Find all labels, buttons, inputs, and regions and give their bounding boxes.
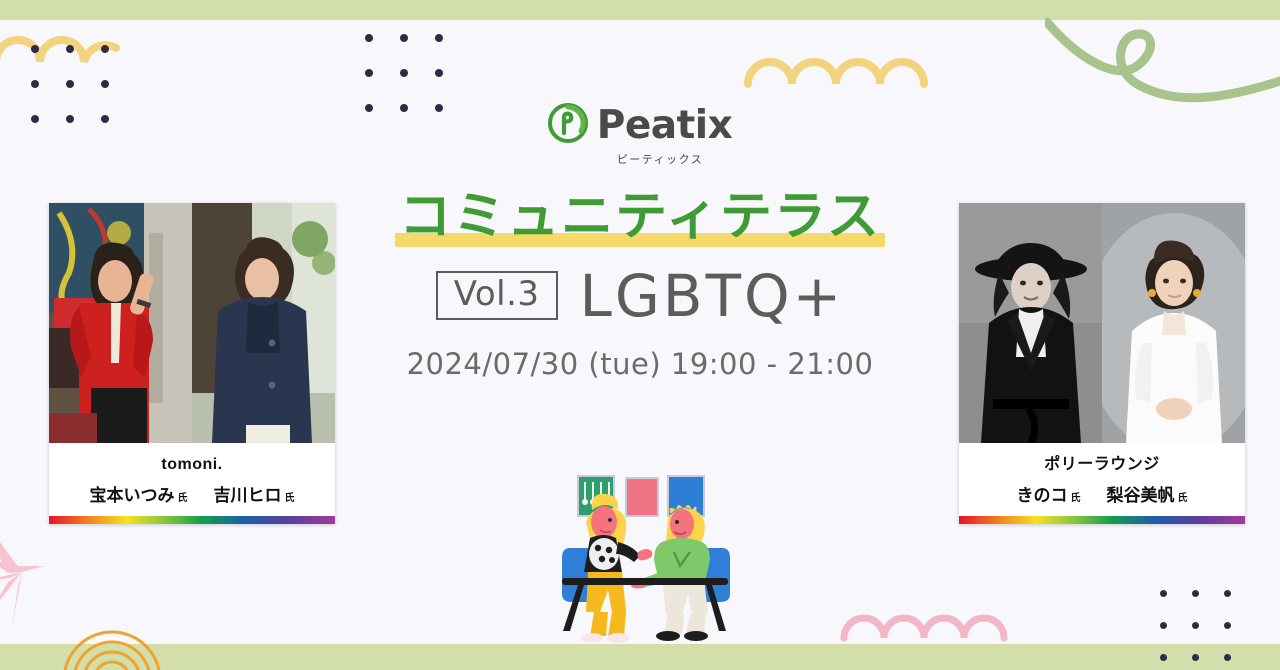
rainbow-pride-bar <box>49 516 335 524</box>
pink-starburst <box>0 520 68 630</box>
event-poster: Peatix ピーティックス コミュニティテラス Vol.3 LGBTQ+ 20… <box>0 0 1280 670</box>
guest-person: きのコ氏 <box>1017 481 1081 506</box>
pink-scallop-arcs-bottom-right <box>840 600 1020 645</box>
guest-photos <box>959 203 1245 443</box>
guest-card-body: ポリーラウンジ きのコ氏 梨谷美帆氏 <box>959 443 1245 516</box>
person-in-navy-jacket-photo <box>192 203 335 443</box>
peatix-wordmark: Peatix <box>597 106 733 145</box>
volume-badge: Vol.3 <box>436 271 558 320</box>
guest-person: 宝本いつみ氏 <box>90 481 188 506</box>
guest-person-name: 宝本いつみ <box>90 486 175 505</box>
two-people-talking-at-table-illustration <box>540 460 750 650</box>
guest-card-tomoni: tomoni. 宝本いつみ氏 吉川ヒロ氏 <box>49 203 335 524</box>
guest-card-poly-lounge: ポリーラウンジ きのコ氏 梨谷美帆氏 <box>959 203 1245 524</box>
peatix-kana-subtitle: ピーティックス <box>0 151 1280 167</box>
guest-person-suffix: 氏 <box>178 493 188 504</box>
page-title: LGBTQ+ <box>580 267 845 325</box>
dot-grid-top-middle <box>365 34 443 112</box>
pink-artwork-frame <box>626 478 658 516</box>
yellow-scallop-arcs-top-right <box>744 40 944 90</box>
event-datetime: 2024/07/30 (tue) 19:00 - 21:00 <box>340 347 940 381</box>
guest-org-name: tomoni. <box>57 455 327 474</box>
dot-grid-bottom-right <box>1160 590 1231 661</box>
hero-text-block: コミュニティテラス Vol.3 LGBTQ+ 2024/07/30 (tue) … <box>340 190 940 381</box>
top-green-band <box>0 0 1280 20</box>
guest-person-suffix: 氏 <box>285 493 295 504</box>
guest-people-list: きのコ氏 梨谷美帆氏 <box>967 481 1237 506</box>
guest-person-name: 吉川ヒロ <box>214 486 282 505</box>
person-in-black-hat-photo <box>959 203 1102 443</box>
guest-person-name: きのコ <box>1017 486 1068 505</box>
guest-photos <box>49 203 335 443</box>
peatix-logo[interactable]: Peatix ピーティックス <box>0 103 1280 167</box>
guest-person-name: 梨谷美帆 <box>1107 486 1175 505</box>
series-title: コミュニティテラス <box>395 190 885 249</box>
guest-person-suffix: 氏 <box>1071 493 1081 504</box>
guest-people-list: 宝本いつみ氏 吉川ヒロ氏 <box>57 481 327 506</box>
rainbow-pride-bar <box>959 516 1245 524</box>
person-in-red-jacket-photo <box>49 203 192 443</box>
guest-person: 吉川ヒロ氏 <box>214 481 295 506</box>
guest-org-name: ポリーラウンジ <box>967 455 1237 474</box>
guest-person-suffix: 氏 <box>1178 493 1188 504</box>
peatix-p-logo-icon <box>548 103 588 148</box>
guest-card-body: tomoni. 宝本いつみ氏 吉川ヒロ氏 <box>49 443 335 516</box>
title-row: Vol.3 LGBTQ+ <box>340 267 940 325</box>
person-in-white-blouse-photo <box>1102 203 1245 443</box>
guest-person: 梨谷美帆氏 <box>1107 481 1188 506</box>
